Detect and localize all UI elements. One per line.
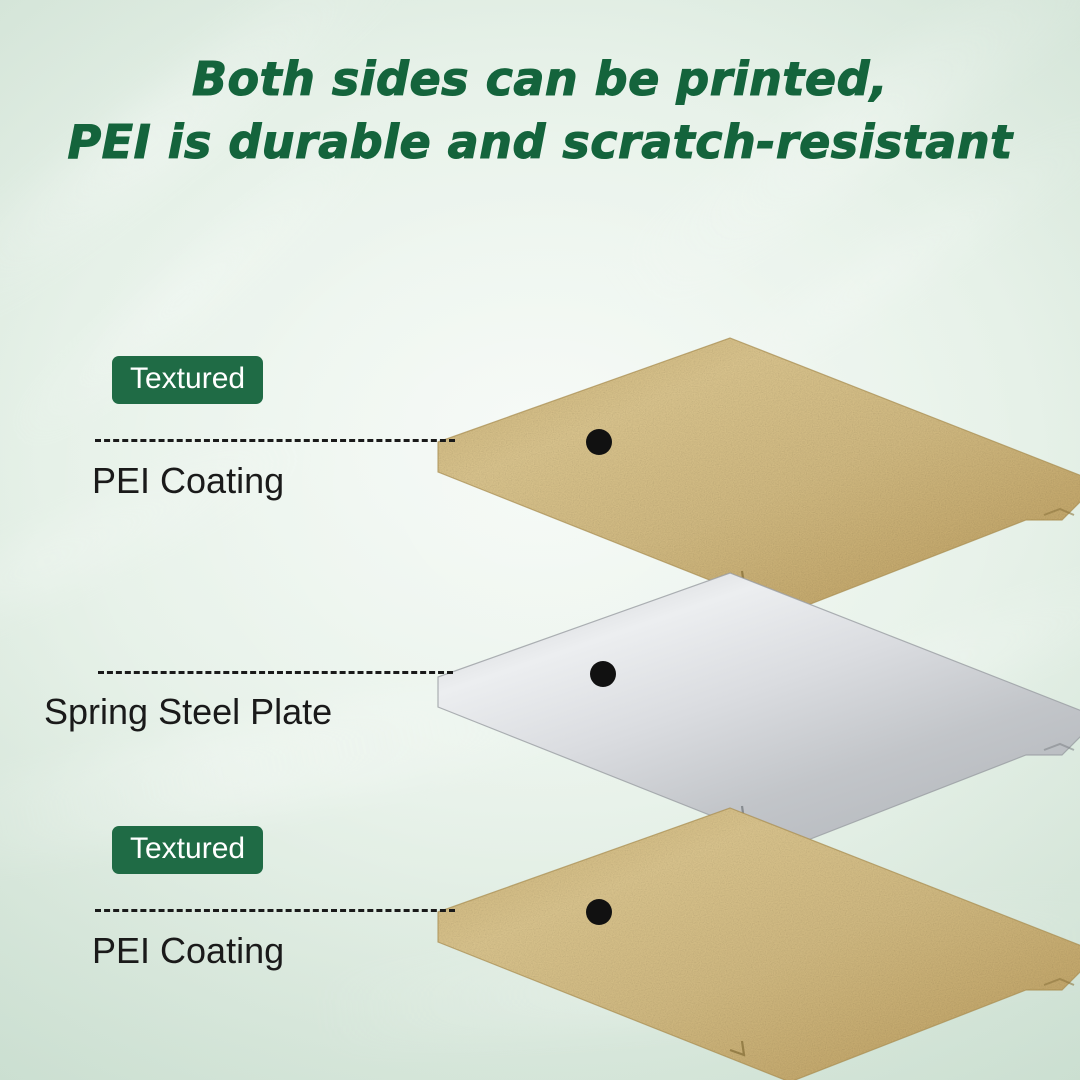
headline-line-2: PEI is durable and scratch-resistant xyxy=(0,111,1080,174)
badge-textured-top: Textured xyxy=(112,356,263,404)
callout-label-text: Spring Steel Plate xyxy=(44,691,332,732)
background-light-streak xyxy=(0,640,661,890)
callout-top-pei-coating: Textured xyxy=(112,356,263,404)
bottom-textured-pei-plate xyxy=(430,800,1080,1080)
label-top-pei-coating: PEI Coating xyxy=(92,463,284,499)
callout-label-text: PEI Coating xyxy=(92,930,284,971)
spring-steel-plate xyxy=(430,565,1080,855)
leader-line-bottom xyxy=(95,909,455,912)
label-spring-steel-plate: Spring Steel Plate xyxy=(44,694,332,730)
label-bottom-pei-coating: PEI Coating xyxy=(92,933,284,969)
leader-line-top xyxy=(95,439,455,442)
badge-textured-bottom: Textured xyxy=(112,826,263,874)
anchor-dot-bottom xyxy=(586,899,612,925)
callout-label-text: PEI Coating xyxy=(92,460,284,501)
anchor-dot-top xyxy=(586,429,612,455)
headline: Both sides can be printed, PEI is durabl… xyxy=(0,48,1080,175)
background-light-streak xyxy=(707,526,1080,774)
top-textured-pei-plate xyxy=(430,330,1080,620)
headline-line-1: Both sides can be printed, xyxy=(0,48,1080,111)
leader-line-middle xyxy=(98,671,453,674)
background-light-streak xyxy=(0,409,327,692)
callout-bottom-pei-coating: Textured xyxy=(112,826,263,874)
anchor-dot-middle xyxy=(590,661,616,687)
diagram-canvas: Both sides can be printed, PEI is durabl… xyxy=(0,0,1080,1080)
